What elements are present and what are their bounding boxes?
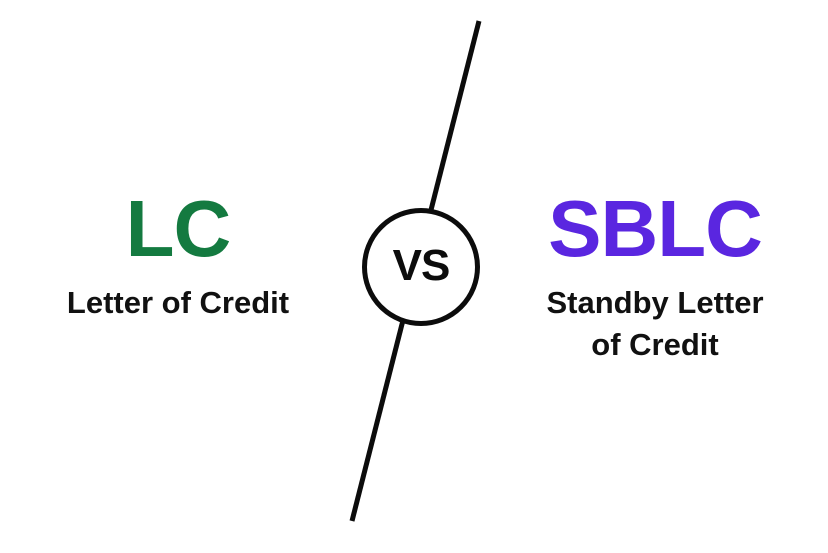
sblc-expansion-line-2: of Credit xyxy=(500,324,810,366)
lc-abbreviation: LC xyxy=(18,190,338,268)
sblc-abbreviation: SBLC xyxy=(500,190,810,268)
lc-expansion-label: Letter of Credit xyxy=(18,282,338,324)
vs-label: VS xyxy=(393,244,450,288)
sblc-expansion-label: Standby Letter of Credit xyxy=(500,282,810,366)
right-term-block: SBLC Standby Letter of Credit xyxy=(500,190,810,366)
sblc-expansion-line-1: Standby Letter xyxy=(500,282,810,324)
vs-badge: VS xyxy=(362,208,480,326)
left-term-block: LC Letter of Credit xyxy=(18,190,338,324)
versus-graphic-canvas: LC Letter of Credit VS SBLC Standby Lett… xyxy=(0,0,828,553)
